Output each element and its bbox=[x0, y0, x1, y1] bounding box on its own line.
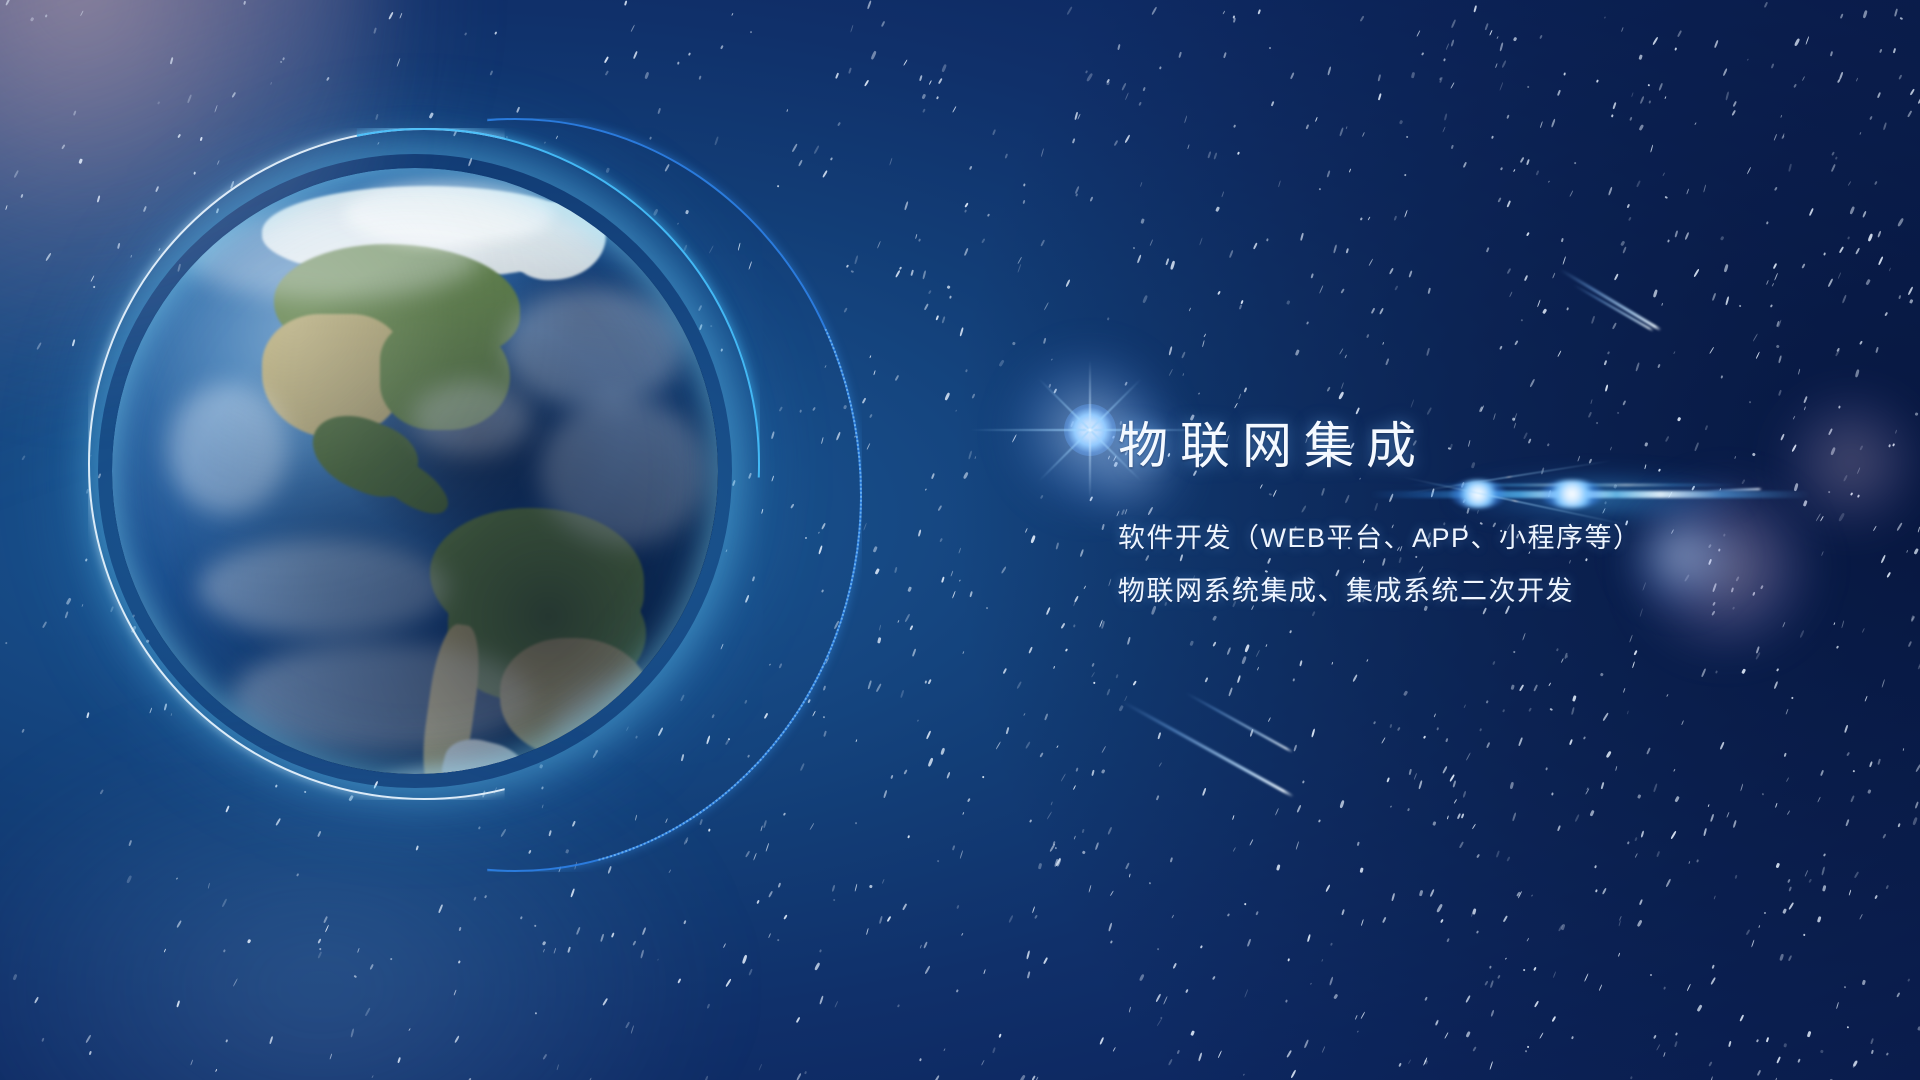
globe-limb-glow bbox=[112, 168, 718, 774]
page-title: 物联网集成 bbox=[1118, 420, 1858, 473]
subtitle-line-1: 软件开发（WEB平台、APP、小程序等） bbox=[1118, 525, 1858, 552]
globe-sphere bbox=[112, 168, 718, 774]
earth-globe bbox=[112, 168, 718, 774]
subtitle-line-2: 物联网系统集成、集成系统二次开发 bbox=[1118, 578, 1858, 605]
banner-stage: 物联网集成 软件开发（WEB平台、APP、小程序等） 物联网系统集成、集成系统二… bbox=[0, 0, 1920, 1080]
banner-text: 物联网集成 软件开发（WEB平台、APP、小程序等） 物联网系统集成、集成系统二… bbox=[1118, 420, 1858, 605]
